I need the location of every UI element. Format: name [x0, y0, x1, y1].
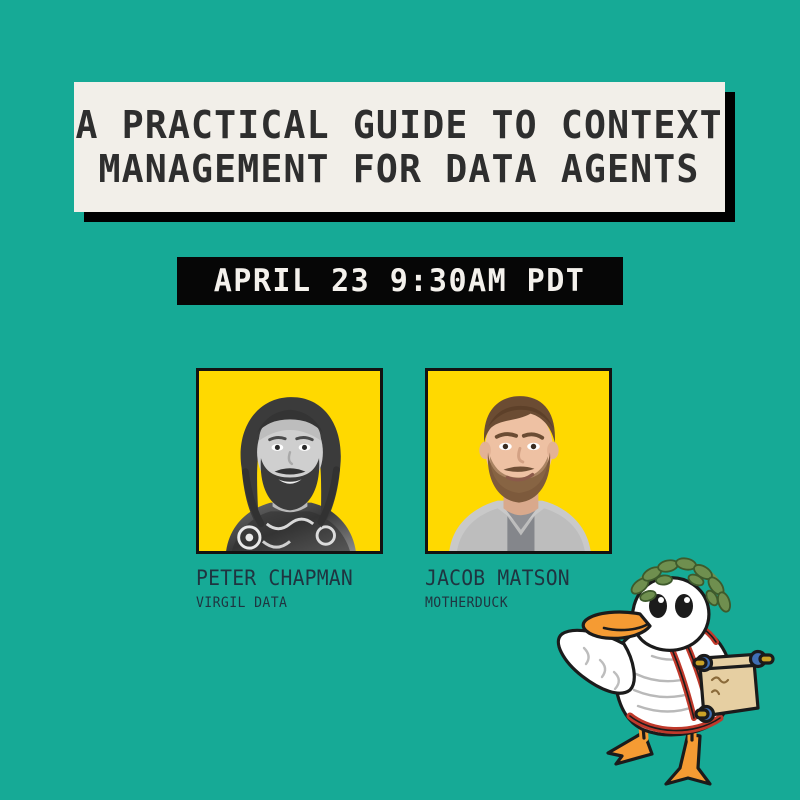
- title-card: A PRACTICAL GUIDE TO CONTEXT MANAGEMENT …: [74, 82, 725, 212]
- portrait-image-peter-chapman: [199, 371, 380, 551]
- speaker-name-0: PETER CHAPMAN: [196, 566, 372, 590]
- speaker-portrait-0: [196, 368, 383, 554]
- portrait-image-jacob-matson: [428, 371, 609, 551]
- speaker-org-0: VIRGIL DATA: [196, 595, 372, 611]
- speakers-row: PETER CHAPMAN VIRGIL DATA: [196, 368, 608, 618]
- speaker-portrait-1: [425, 368, 612, 554]
- philosopher-duck-mascot: [548, 548, 800, 800]
- title-line-1: A PRACTICAL GUIDE TO CONTEXT: [76, 103, 723, 147]
- duck-illustration: [548, 548, 800, 800]
- title-line-2: MANAGEMENT FOR DATA AGENTS: [99, 147, 700, 191]
- webinar-poster: A PRACTICAL GUIDE TO CONTEXT MANAGEMENT …: [0, 0, 800, 800]
- date-banner-text: APRIL 23 9:30AM PDT: [214, 263, 586, 299]
- speaker-card-0: PETER CHAPMAN VIRGIL DATA: [196, 368, 383, 611]
- date-banner: APRIL 23 9:30AM PDT: [177, 257, 623, 305]
